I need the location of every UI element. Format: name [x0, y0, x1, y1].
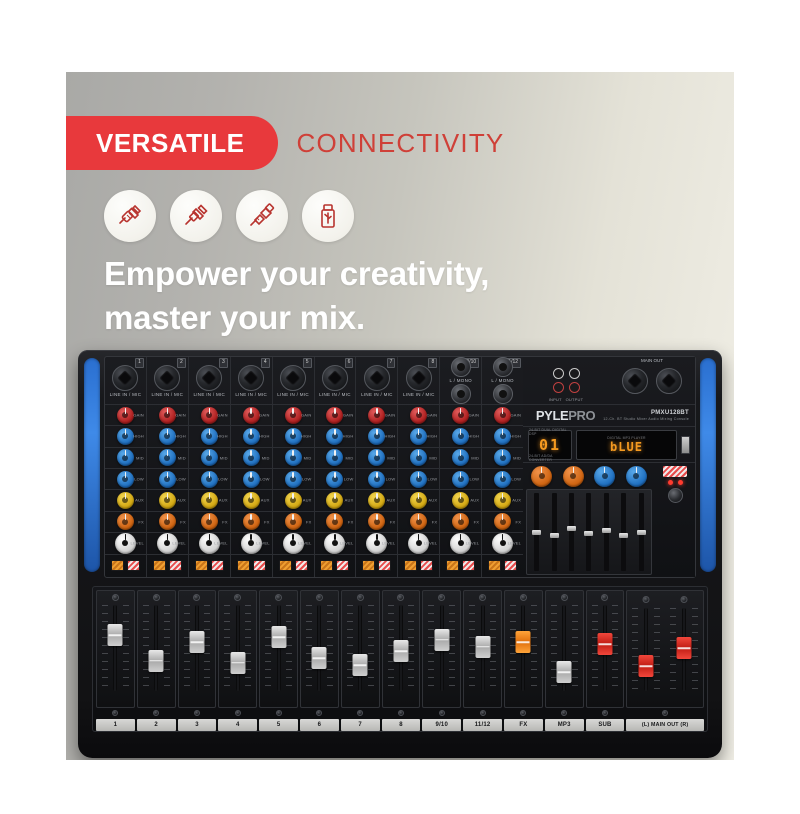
- fader-fx-cap[interactable]: [516, 631, 531, 653]
- channel-4-gain-label: GAIN: [259, 413, 270, 418]
- channel-11-12-fx-label: FX: [516, 519, 522, 524]
- channel-11-12-left-label: L / MONO: [491, 378, 514, 383]
- channel-5-low-knob[interactable]: [285, 471, 302, 488]
- channel-6-jack-label: LINE IN / MIC: [319, 392, 351, 397]
- fader-8-cap[interactable]: [393, 640, 408, 662]
- channel-5-mid-knob[interactable]: [285, 449, 302, 466]
- master-section: INPUT OUTPUT MAIN OUT PYLEPRO PMXU128B: [523, 357, 695, 577]
- channel-4-mute-button[interactable]: [253, 560, 266, 571]
- channel-2-mid-knob[interactable]: [159, 449, 176, 466]
- channel-6-knob-cell-mid: MID: [315, 448, 356, 469]
- channel-9-10-left-label: L / MONO: [449, 378, 472, 383]
- channel-4-knob-cell-level: LEVEL: [231, 533, 272, 555]
- channel-5-knob-cell-gain: GAIN: [273, 405, 314, 426]
- fader-5-scale-left: [265, 605, 271, 691]
- fader-11-12-bottom-dot: [480, 710, 486, 716]
- fader-3-cap[interactable]: [189, 631, 204, 653]
- fader-l-main-out-r-bottom: [626, 708, 704, 717]
- channel-1-high-knob[interactable]: [117, 428, 134, 445]
- channel-3-knob-cell-low: LOW: [189, 469, 230, 490]
- main-knob[interactable]: [594, 466, 615, 487]
- channel-2-gain-knob[interactable]: [159, 407, 176, 424]
- channel-4-knob-cell-gain: GAIN: [231, 405, 272, 426]
- channel-11-12-gain-knob[interactable]: [494, 407, 511, 424]
- channel-7-combo-jack[interactable]: [364, 365, 390, 391]
- channel-6-pfl-button[interactable]: [320, 560, 333, 571]
- channel-8-high-knob[interactable]: [410, 428, 427, 445]
- eq-band-1kHz-cap[interactable]: [584, 531, 593, 536]
- fader-3-strip: 3: [177, 590, 218, 731]
- channel-9-10-knob-cell-high: HIGH: [440, 426, 481, 447]
- brand-bar: PYLEPRO PMXU128BT 12-Ch. BT Studio Mixer…: [523, 405, 695, 427]
- channel-11-12-mid-label: MID: [513, 455, 521, 460]
- channel-9-10-mid-knob[interactable]: [452, 449, 469, 466]
- eq-band-160Hz[interactable]: [552, 493, 557, 571]
- channel-7-strip: 7 LINE IN / MIC GAIN HIGH MID LOW: [356, 357, 398, 577]
- channel-8-number: 8: [428, 358, 437, 368]
- fader-5-label: 5: [259, 719, 298, 731]
- channel-2-fx-knob[interactable]: [159, 513, 176, 530]
- channel-11-12-mute-button[interactable]: [504, 560, 517, 571]
- screenshot-root: VERSATILE CONNECTIVITY: [0, 0, 800, 814]
- channel-4-high-knob[interactable]: [243, 428, 260, 445]
- channel-3-low-knob[interactable]: [201, 471, 218, 488]
- phantom-led-2: [678, 480, 683, 485]
- channel-1-knob-cell-gain: GAIN: [105, 405, 146, 426]
- channel-1-knob-cell-aux: AUX: [105, 490, 146, 511]
- fader-l-main-out-r-left-track[interactable]: [644, 608, 648, 691]
- audio-mixer-device: 1 LINE IN / MIC GAIN HIGH MID LOW: [78, 350, 722, 758]
- channel-11-12-fx-knob[interactable]: [494, 513, 511, 530]
- fader-sub-scale-right: [612, 605, 618, 691]
- channel-3-pfl-button[interactable]: [195, 560, 208, 571]
- channel-7-high-knob[interactable]: [368, 428, 385, 445]
- fader-1-cap[interactable]: [108, 624, 123, 646]
- fader-mp3-top-dot: [561, 594, 568, 601]
- eq-band-6.25kHz[interactable]: [621, 493, 626, 571]
- fader-6-bottom-dot: [316, 710, 322, 716]
- usb-port[interactable]: [681, 436, 690, 454]
- rca-input-left-jack[interactable]: [553, 368, 564, 379]
- headphone-jack[interactable]: [668, 488, 683, 503]
- channel-1-mid-knob[interactable]: [117, 449, 134, 466]
- channel-3-gain-knob[interactable]: [201, 407, 218, 424]
- fader-l-main-out-r-right: [665, 594, 703, 707]
- channel-5-knob-cell-level: LEVEL: [273, 533, 314, 555]
- channel-7-low-label: LOW: [386, 477, 396, 482]
- channel-4-fx-knob[interactable]: [243, 513, 260, 530]
- channel-5-jack-label: LINE IN / MIC: [277, 392, 309, 397]
- channel-6-knob-cell-fx: FX: [315, 512, 356, 533]
- fader-1-top-dot: [112, 594, 119, 601]
- channel-7-level-label: LEVEL: [382, 541, 395, 546]
- rca-output-left-jack[interactable]: [569, 368, 580, 379]
- channel-9-10-pfl-button[interactable]: [446, 560, 459, 571]
- fader-sub-top-dot: [601, 594, 608, 601]
- channel-9-10-right-jack[interactable]: [451, 384, 471, 404]
- channel-11-12-knob-cell-level: LEVEL: [482, 533, 523, 555]
- channel-9-10-gain-label: GAIN: [469, 413, 480, 418]
- channel-6-low-knob[interactable]: [326, 471, 343, 488]
- fader-4-strip: 4: [217, 590, 258, 731]
- channel-4-strip: 4 LINE IN / MIC GAIN HIGH MID LOW: [231, 357, 273, 577]
- channel-8-knob-cell-high: HIGH: [398, 426, 439, 447]
- channel-2-combo-jack[interactable]: [154, 365, 180, 391]
- left-side-rail: [84, 358, 100, 572]
- channel-5-fx-label: FX: [306, 519, 312, 524]
- fader-fx-scale-right: [531, 605, 537, 691]
- channel-8-mute-button[interactable]: [420, 560, 433, 571]
- channel-5-knob-cell-mid: MID: [273, 448, 314, 469]
- channel-11-12-level-label: LEVEL: [508, 541, 521, 546]
- eq-band-63Hz[interactable]: [534, 493, 539, 571]
- effect-knob-row: [526, 465, 652, 487]
- fader-6-body: [300, 590, 339, 708]
- channel-3-combo-jack[interactable]: [196, 365, 222, 391]
- channel-11-12-left-jack[interactable]: [493, 357, 513, 377]
- fader-mp3-body: [545, 590, 584, 708]
- channel-1-pfl-button[interactable]: [111, 560, 124, 571]
- fader-mp3-label: MP3: [545, 719, 584, 731]
- channel-9-10-mid-label: MID: [471, 455, 479, 460]
- channel-8-low-knob[interactable]: [410, 471, 427, 488]
- eq-band-63Hz-cap[interactable]: [532, 530, 541, 535]
- fader-4-cap[interactable]: [230, 652, 245, 674]
- channel-11-12-mid-knob[interactable]: [494, 449, 511, 466]
- channel-5-knob-cell-fx: FX: [273, 512, 314, 533]
- fader-11-12-cap[interactable]: [475, 636, 490, 658]
- channel-6-knob-cell-gain: GAIN: [315, 405, 356, 426]
- channel-6-level-label: LEVEL: [340, 541, 353, 546]
- channel-11-12-high-knob[interactable]: [494, 428, 511, 445]
- channel-4-aux-knob[interactable]: [243, 492, 260, 509]
- channel-8-low-label: LOW: [428, 477, 438, 482]
- main-out-group: MAIN OUT: [609, 357, 695, 404]
- channel-2-knob-cell-level: LEVEL: [147, 533, 188, 555]
- rca-input-right-jack[interactable]: [553, 382, 564, 393]
- channel-7-mid-knob[interactable]: [368, 449, 385, 466]
- fader-deck: 1 2 3 4: [92, 586, 708, 732]
- fader-5-bottom: [259, 708, 298, 717]
- main-out-left-xlr[interactable]: [622, 368, 648, 394]
- fader-4-bottom: [218, 708, 257, 717]
- fader-1-strip: 1: [95, 590, 136, 731]
- channel-7-pfl-button[interactable]: [362, 560, 375, 571]
- channel-11-12-low-knob[interactable]: [494, 471, 511, 488]
- channel-4-combo-jack[interactable]: [238, 365, 264, 391]
- channel-4-high-label: HIGH: [259, 434, 270, 439]
- eq-fader-group: [529, 493, 649, 571]
- channel-6-mid-knob[interactable]: [326, 449, 343, 466]
- eq-band-400Hz[interactable]: [569, 493, 574, 571]
- fx-knob[interactable]: [531, 466, 552, 487]
- fader-2-cap[interactable]: [149, 650, 164, 672]
- fader-2-track[interactable]: [154, 605, 158, 691]
- channel-7-fx-knob[interactable]: [368, 513, 385, 530]
- channel-2-level-label: LEVEL: [172, 541, 185, 546]
- channel-3-strip: 3 LINE IN / MIC GAIN HIGH MID LOW: [189, 357, 231, 577]
- channel-3-fx-knob[interactable]: [201, 513, 218, 530]
- parameter-knob[interactable]: [563, 466, 584, 487]
- channel-3-mute-button[interactable]: [211, 560, 224, 571]
- channel-6-gain-label: GAIN: [343, 413, 354, 418]
- channel-2-knob-cell-gain: GAIN: [147, 405, 188, 426]
- fader-9-10-bottom: [422, 708, 461, 717]
- channel-9-10-strip: 9/10 L / MONO GAIN HIGH MID LOW: [440, 357, 482, 577]
- fader-2-scale-left: [143, 605, 149, 691]
- fader-9-10-body: [422, 590, 461, 708]
- channel-2-high-label: HIGH: [175, 434, 186, 439]
- channel-3-gain-label: GAIN: [217, 413, 228, 418]
- channel-2-pfl-button[interactable]: [153, 560, 166, 571]
- fader-7-track[interactable]: [358, 605, 362, 691]
- channel-3-mid-knob[interactable]: [201, 449, 218, 466]
- channel-6-low-label: LOW: [344, 477, 354, 482]
- channel-7-gain-knob[interactable]: [368, 407, 385, 424]
- channel-7-jack-area: 7 LINE IN / MIC: [356, 357, 397, 405]
- fader-11-12-bottom: [463, 708, 502, 717]
- channel-2-jack-label: LINE IN / MIC: [152, 392, 184, 397]
- channel-5-level-label: LEVEL: [298, 541, 311, 546]
- channel-6-strip: 6 LINE IN / MIC GAIN HIGH MID LOW: [315, 357, 357, 577]
- channel-11-12-right-jack[interactable]: [493, 384, 513, 404]
- fader-7-strip: 7: [340, 590, 381, 731]
- rca-output-right-jack[interactable]: [569, 382, 580, 393]
- channel-1-level-label: LEVEL: [130, 541, 143, 546]
- channel-7-low-knob[interactable]: [368, 471, 385, 488]
- channel-2-mute-button[interactable]: [169, 560, 182, 571]
- connector-icon-row: [104, 190, 354, 242]
- channel-4-low-label: LOW: [260, 477, 270, 482]
- channel-8-knob-cell-low: LOW: [398, 469, 439, 490]
- product-hero-panel: VERSATILE CONNECTIVITY: [66, 72, 734, 760]
- counter-caption-top: 24-BIT DUAL DIGITAL DSP: [529, 428, 571, 436]
- mini-jack-3-5mm-icon: [170, 190, 222, 242]
- channel-11-12-pfl-button[interactable]: [488, 560, 501, 571]
- fader-1-track[interactable]: [113, 605, 117, 691]
- channel-1-knob-cell-mid: MID: [105, 448, 146, 469]
- fader-l-main-out-r-right-dot: [681, 596, 688, 603]
- eq-fader-slot: [526, 489, 652, 575]
- channel-1-aux-knob[interactable]: [117, 492, 134, 509]
- channel-3-jack-label: LINE IN / MIC: [193, 392, 225, 397]
- fader-mp3-strip: MP3: [544, 590, 585, 731]
- channel-8-aux-label: AUX: [428, 498, 437, 503]
- fader-sub-cap[interactable]: [597, 633, 612, 655]
- channel-3-high-knob[interactable]: [201, 428, 218, 445]
- fader-fx-bottom: [504, 708, 543, 717]
- channel-3-knob-cell-mid: MID: [189, 448, 230, 469]
- channel-5-gain-knob[interactable]: [285, 407, 302, 424]
- fader-sub-body: [586, 590, 625, 708]
- channel-9-10-fx-label: FX: [474, 519, 480, 524]
- channel-3-knob-cell-gain: GAIN: [189, 405, 230, 426]
- mixer-top-panel: 1 LINE IN / MIC GAIN HIGH MID LOW: [104, 356, 696, 578]
- channel-6-gain-knob[interactable]: [326, 407, 343, 424]
- channel-5-strip: 5 LINE IN / MIC GAIN HIGH MID LOW: [273, 357, 315, 577]
- fader-9-10-cap[interactable]: [434, 629, 449, 651]
- fader-7-cap[interactable]: [353, 654, 368, 676]
- channel-4-gain-knob[interactable]: [243, 407, 260, 424]
- eq-band-400Hz-cap[interactable]: [567, 526, 576, 531]
- channel-6-fx-knob[interactable]: [326, 513, 343, 530]
- eq-band-16kHz-cap[interactable]: [637, 530, 646, 535]
- channel-2-low-knob[interactable]: [159, 471, 176, 488]
- fader-3-top-dot: [193, 594, 200, 601]
- channel-4-low-knob[interactable]: [243, 471, 260, 488]
- model-subtitle: 12-Ch. BT Studio Mixer Audio Mixing Cons…: [603, 417, 689, 421]
- channel-8-knob-cell-gain: GAIN: [398, 405, 439, 426]
- channel-9-10-high-label: HIGH: [468, 434, 479, 439]
- fader-7-body: [341, 590, 380, 708]
- channel-1-knob-cell-fx: FX: [105, 512, 146, 533]
- channel-11-12-jack-area: 11/12 L / MONO: [482, 357, 523, 405]
- fader-8-bottom: [382, 708, 421, 717]
- brand-logo: PYLEPRO: [536, 408, 595, 423]
- channel-6-mute-button[interactable]: [336, 560, 349, 571]
- channel-7-mute-button[interactable]: [378, 560, 391, 571]
- fader-6-label: 6: [300, 719, 339, 731]
- channel-5-high-knob[interactable]: [285, 428, 302, 445]
- channel-4-pfl-button[interactable]: [237, 560, 250, 571]
- channel-2-high-knob[interactable]: [159, 428, 176, 445]
- fader-l-main-out-r-left-cap[interactable]: [639, 655, 654, 677]
- eq-band-6.25kHz-cap[interactable]: [619, 533, 628, 538]
- eq-band-160Hz-cap[interactable]: [550, 533, 559, 538]
- channel-8-aux-knob[interactable]: [410, 492, 427, 509]
- fader-5-strip: 5: [258, 590, 299, 731]
- versatile-badge: VERSATILE: [66, 116, 278, 170]
- fader-5-cap[interactable]: [271, 626, 286, 648]
- channel-3-fx-label: FX: [222, 519, 228, 524]
- channel-1-combo-jack[interactable]: [112, 365, 138, 391]
- player-value: bLUE: [610, 440, 643, 454]
- channel-7-knob-cell-aux: AUX: [356, 490, 397, 511]
- channel-5-gain-label: GAIN: [301, 413, 312, 418]
- fader-6-cap[interactable]: [312, 647, 327, 669]
- fader-2-label: 2: [137, 719, 176, 731]
- channel-3-aux-knob[interactable]: [201, 492, 218, 509]
- fader-4-label: 4: [218, 719, 257, 731]
- channel-9-10-mute-button[interactable]: [462, 560, 475, 571]
- fader-4-track[interactable]: [236, 605, 240, 691]
- channel-7-mid-label: MID: [387, 455, 395, 460]
- channel-9-10-high-knob[interactable]: [452, 428, 469, 445]
- channel-11-12-aux-knob[interactable]: [494, 492, 511, 509]
- channel-9-10-low-knob[interactable]: [452, 471, 469, 488]
- fader-l-main-out-r-left: [627, 594, 665, 707]
- quarter-inch-trs-jack-icon: [104, 190, 156, 242]
- channel-2-aux-knob[interactable]: [159, 492, 176, 509]
- channel-2-knob-cell-high: HIGH: [147, 426, 188, 447]
- channel-1-fx-knob[interactable]: [117, 513, 134, 530]
- fader-l-main-out-r-strip: (L) MAIN OUT (R): [625, 590, 705, 731]
- channel-8-gain-knob[interactable]: [410, 407, 427, 424]
- channel-4-mid-label: MID: [262, 455, 270, 460]
- channel-6-fx-label: FX: [348, 519, 354, 524]
- channel-1-gain-knob[interactable]: [117, 407, 134, 424]
- channel-2-number: 2: [177, 358, 186, 368]
- display-bar: 24-BIT DUAL DIGITAL DSP 01 24-BIT AD/DA …: [523, 427, 695, 463]
- channel-8-level-label: LEVEL: [424, 541, 437, 546]
- channel-11-12-knob-cell-low: LOW: [482, 469, 523, 490]
- channel-7-gain-label: GAIN: [385, 413, 396, 418]
- channel-6-combo-jack[interactable]: [322, 365, 348, 391]
- channel-8-fx-knob[interactable]: [410, 513, 427, 530]
- channel-11-12-high-label: HIGH: [510, 434, 521, 439]
- fader-5-bottom-dot: [276, 710, 282, 716]
- fader-sub-bottom: [586, 708, 625, 717]
- phantom-power-button[interactable]: [663, 466, 687, 477]
- channel-6-knob-cell-low: LOW: [315, 469, 356, 490]
- channel-1-low-knob[interactable]: [117, 471, 134, 488]
- channel-5-aux-knob[interactable]: [285, 492, 302, 509]
- eq-band-2.5kHz-cap[interactable]: [602, 528, 611, 533]
- channel-2-button-row: [147, 555, 188, 577]
- fader-9-10-scale-right: [449, 605, 455, 691]
- channel-3-jack-area: 3 LINE IN / MIC: [189, 357, 230, 405]
- channel-5-aux-label: AUX: [303, 498, 312, 503]
- channel-8-knob-cell-mid: MID: [398, 448, 439, 469]
- main-out-right-xlr[interactable]: [656, 368, 682, 394]
- channel-11-12-low-label: LOW: [511, 477, 521, 482]
- channel-4-mid-knob[interactable]: [243, 449, 260, 466]
- channel-8-combo-jack[interactable]: [406, 365, 432, 391]
- fader-mp3-scale-right: [572, 605, 578, 691]
- fader-7-scale-left: [347, 605, 353, 691]
- channel-5-pfl-button[interactable]: [279, 560, 292, 571]
- channel-6-high-knob[interactable]: [326, 428, 343, 445]
- page-title: Empower your creativity, master your mix…: [104, 252, 704, 340]
- eq-band-2.5kHz[interactable]: [604, 493, 609, 571]
- fader-mp3-cap[interactable]: [557, 661, 572, 683]
- fader-7-label: 7: [341, 719, 380, 731]
- channel-7-aux-knob[interactable]: [368, 492, 385, 509]
- channel-2-jack-area: 2 LINE IN / MIC: [147, 357, 188, 405]
- channel-7-knob-cell-low: LOW: [356, 469, 397, 490]
- channel-6-aux-knob[interactable]: [326, 492, 343, 509]
- eq-band-1kHz[interactable]: [586, 493, 591, 571]
- channel-9-10-aux-knob[interactable]: [452, 492, 469, 509]
- channel-5-combo-jack[interactable]: [280, 365, 306, 391]
- channel-5-fx-knob[interactable]: [285, 513, 302, 530]
- fader-l-main-out-r-right-cap[interactable]: [677, 637, 692, 659]
- channel-6-mid-label: MID: [346, 455, 354, 460]
- channel-5-button-row: [273, 555, 314, 577]
- fader-5-top-dot: [275, 594, 282, 601]
- channel-9-10-fx-knob[interactable]: [452, 513, 469, 530]
- channel-7-knob-cell-high: HIGH: [356, 426, 397, 447]
- channel-9-10-left-jack[interactable]: [451, 357, 471, 377]
- channel-1-mute-button[interactable]: [127, 560, 140, 571]
- channel-9-10-knob-cell-gain: GAIN: [440, 405, 481, 426]
- channel-4-knob-cell-high: HIGH: [231, 426, 272, 447]
- channel-7-jack-label: LINE IN / MIC: [361, 392, 393, 397]
- channel-8-pfl-button[interactable]: [404, 560, 417, 571]
- phones-knob[interactable]: [626, 466, 647, 487]
- phantom-led-1: [668, 480, 673, 485]
- channel-5-mute-button[interactable]: [295, 560, 308, 571]
- fader-fx-bottom-dot: [520, 710, 526, 716]
- main-out-label: MAIN OUT: [641, 358, 663, 363]
- fader-2-top-dot: [153, 594, 160, 601]
- channel-5-knob-cell-low: LOW: [273, 469, 314, 490]
- channel-7-button-row: [356, 555, 397, 577]
- channel-9-10-gain-knob[interactable]: [452, 407, 469, 424]
- fader-1-body: [96, 590, 135, 708]
- channel-8-mid-knob[interactable]: [410, 449, 427, 466]
- eq-band-16kHz[interactable]: [639, 493, 644, 571]
